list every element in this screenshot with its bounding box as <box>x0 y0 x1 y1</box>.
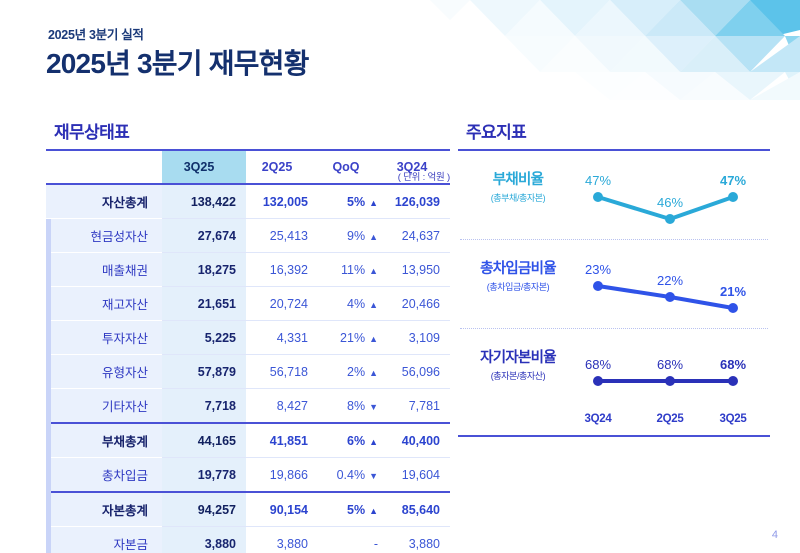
table-row: 현금성자산27,67425,4139%▲24,637 <box>46 219 450 253</box>
panel-heading-key-metrics: 주요지표 <box>466 118 770 143</box>
metric-label: 자기자본비율(총자본/총자산) <box>462 351 574 382</box>
cell-qoq: 2%▲ <box>318 355 384 389</box>
cell-3q24: 20,466 <box>384 287 450 321</box>
cell-3q25: 7,718 <box>162 389 246 424</box>
cell-2q25: 41,851 <box>246 423 318 458</box>
row-label: 투자자산 <box>46 321 162 355</box>
column-header-qoq[interactable]: QoQ <box>318 151 384 184</box>
qoq-value: 2% <box>347 365 365 379</box>
cell-3q24: 7,781 <box>384 389 450 424</box>
row-label: 유형자산 <box>46 355 162 389</box>
cell-3q25: 19,778 <box>162 458 246 493</box>
metric-data-point[interactable] <box>665 214 675 224</box>
page-number: 4 <box>772 529 778 541</box>
unit-note: ( 단위 : 억원 ) <box>398 169 450 183</box>
metric-value-label: 22% <box>657 273 683 288</box>
balance-sheet-table: 3Q25 2Q25 QoQ 3Q24 자산총계138,422132,0055%▲… <box>46 151 450 553</box>
slide-eyebrow: 2025년 3분기 실적 <box>48 24 144 43</box>
cell-3q24: 19,604 <box>384 458 450 493</box>
balance-sheet-table-wrap: ( 단위 : 억원 ) 3Q25 2Q25 QoQ 3Q24 자산총계138,4… <box>46 151 450 553</box>
table-left-accent-bar <box>46 219 51 553</box>
metric-data-point[interactable] <box>593 192 603 202</box>
metric-data-point[interactable] <box>593 281 603 291</box>
cell-3q24: 3,109 <box>384 321 450 355</box>
metric-value-label: 68% <box>657 357 683 372</box>
cell-3q24: 13,950 <box>384 253 450 287</box>
cell-3q25: 5,225 <box>162 321 246 355</box>
metric-data-point[interactable] <box>728 303 738 313</box>
row-label: 재고자산 <box>46 287 162 321</box>
metric-subtitle: (총부채/총자본) <box>462 191 574 204</box>
cell-3q24: 40,400 <box>384 423 450 458</box>
financial-position-panel: 재무상태표 ( 단위 : 억원 ) 3Q25 2Q25 QoQ 3Q24 <box>46 118 450 553</box>
metric-block: 자기자본비율(총자본/총자산)68%68%68% <box>458 329 770 417</box>
metric-label: 부채비율(총부채/총자본) <box>462 173 574 204</box>
axis-baseline <box>458 435 770 437</box>
cell-3q25: 44,165 <box>162 423 246 458</box>
metric-value-label: 47% <box>585 173 611 188</box>
page-title: 2025년 3분기 재무현황 <box>46 42 309 82</box>
metric-value-label: 46% <box>657 195 683 210</box>
qoq-value: 8% <box>347 399 365 413</box>
cell-2q25: 20,724 <box>246 287 318 321</box>
cell-2q25: 16,392 <box>246 253 318 287</box>
metric-value-label: 68% <box>585 357 611 372</box>
metric-value-label: 47% <box>720 173 746 188</box>
arrow-up-icon: ▲ <box>369 232 378 242</box>
axis-tick-label: 2Q25 <box>657 413 684 425</box>
cell-2q25: 90,154 <box>246 492 318 527</box>
qoq-value: 4% <box>347 297 365 311</box>
metric-data-point[interactable] <box>593 376 603 386</box>
metric-block: 총차입금비율(총차입금/총자본)23%22%21% <box>458 240 770 328</box>
cell-3q25: 18,275 <box>162 253 246 287</box>
table-row: 기타자산7,7188,4278%▼7,781 <box>46 389 450 424</box>
row-label: 총차입금 <box>46 458 162 493</box>
cell-qoq: 8%▼ <box>318 389 384 424</box>
row-label: 기타자산 <box>46 389 162 424</box>
metric-title: 총차입금비율 <box>462 262 574 278</box>
qoq-value: 21% <box>340 331 365 345</box>
row-label: 매출채권 <box>46 253 162 287</box>
table-row: 자본금3,8803,880-3,880 <box>46 527 450 553</box>
qoq-value: 5% <box>347 195 365 209</box>
cell-3q24: 85,640 <box>384 492 450 527</box>
metric-data-point[interactable] <box>665 292 675 302</box>
cell-3q25: 94,257 <box>162 492 246 527</box>
panel-heading-balance-sheet: 재무상태표 <box>54 118 450 143</box>
qoq-value: 0.4% <box>337 468 366 482</box>
metric-subtitle: (총자본/총자산) <box>462 369 574 382</box>
metrics-axis: 3Q242Q253Q25 <box>458 411 770 445</box>
metric-subtitle: (총차입금/총자본) <box>462 280 574 293</box>
metric-block: 부채비율(총부채/총자본)47%46%47% <box>458 151 770 239</box>
cell-qoq: 5%▲ <box>318 184 384 219</box>
axis-tick-label: 3Q25 <box>720 413 747 425</box>
row-label: 자본총계 <box>46 492 162 527</box>
cell-qoq: 11%▲ <box>318 253 384 287</box>
metric-title: 자기자본비율 <box>462 351 574 367</box>
arrow-down-icon: ▼ <box>369 471 378 481</box>
cell-qoq: 6%▲ <box>318 423 384 458</box>
metric-data-point[interactable] <box>665 376 675 386</box>
qoq-value: - <box>374 537 378 551</box>
row-label: 부채총계 <box>46 423 162 458</box>
arrow-up-icon: ▲ <box>369 437 378 447</box>
cell-3q24: 3,880 <box>384 527 450 553</box>
cell-3q25: 21,651 <box>162 287 246 321</box>
metric-data-point[interactable] <box>728 376 738 386</box>
qoq-value: 5% <box>347 503 365 517</box>
table-row: 재고자산21,65120,7244%▲20,466 <box>46 287 450 321</box>
column-header-label <box>46 151 162 184</box>
axis-tick-label: 3Q24 <box>585 413 612 425</box>
column-header-2q25[interactable]: 2Q25 <box>246 151 318 184</box>
cell-qoq: 5%▲ <box>318 492 384 527</box>
cell-3q25: 3,880 <box>162 527 246 553</box>
qoq-value: 9% <box>347 229 365 243</box>
metric-data-point[interactable] <box>728 192 738 202</box>
row-label: 자산총계 <box>46 184 162 219</box>
table-row: 매출채권18,27516,39211%▲13,950 <box>46 253 450 287</box>
cell-3q24: 126,039 <box>384 184 450 219</box>
arrow-down-icon: ▼ <box>369 402 378 412</box>
table-row: 부채총계44,16541,8516%▲40,400 <box>46 423 450 458</box>
cell-2q25: 132,005 <box>246 184 318 219</box>
table-row: 자본총계94,25790,1545%▲85,640 <box>46 492 450 527</box>
cell-3q25: 27,674 <box>162 219 246 253</box>
table-row: 유형자산57,87956,7182%▲56,096 <box>46 355 450 389</box>
metric-value-label: 68% <box>720 357 746 372</box>
cell-3q24: 56,096 <box>384 355 450 389</box>
table-row: 투자자산5,2254,33121%▲3,109 <box>46 321 450 355</box>
arrow-up-icon: ▲ <box>369 300 378 310</box>
table-row: 자산총계138,422132,0055%▲126,039 <box>46 184 450 219</box>
cell-qoq: 0.4%▼ <box>318 458 384 493</box>
metric-value-label: 23% <box>585 262 611 277</box>
cell-qoq: 4%▲ <box>318 287 384 321</box>
cell-qoq: - <box>318 527 384 553</box>
cell-2q25: 8,427 <box>246 389 318 424</box>
cell-2q25: 56,718 <box>246 355 318 389</box>
metric-value-label: 21% <box>720 284 746 299</box>
cell-qoq: 21%▲ <box>318 321 384 355</box>
cell-3q25: 138,422 <box>162 184 246 219</box>
arrow-up-icon: ▲ <box>369 266 378 276</box>
cell-2q25: 3,880 <box>246 527 318 553</box>
arrow-up-icon: ▲ <box>369 198 378 208</box>
metric-line-chart: 23%22%21% <box>570 240 770 328</box>
qoq-value: 6% <box>347 434 365 448</box>
qoq-value: 11% <box>341 263 365 277</box>
cell-2q25: 4,331 <box>246 321 318 355</box>
table-row: 총차입금19,77819,8660.4%▼19,604 <box>46 458 450 493</box>
column-header-3q25[interactable]: 3Q25 <box>162 151 246 184</box>
cell-2q25: 25,413 <box>246 219 318 253</box>
cell-2q25: 19,866 <box>246 458 318 493</box>
arrow-up-icon: ▲ <box>369 334 378 344</box>
metric-line-chart: 47%46%47% <box>570 151 770 239</box>
key-metrics-panel: 주요지표 부채비율(총부채/총자본)47%46%47%총차입금비율(총차입금/총… <box>458 118 770 445</box>
cell-3q24: 24,637 <box>384 219 450 253</box>
row-label: 현금성자산 <box>46 219 162 253</box>
cell-qoq: 9%▲ <box>318 219 384 253</box>
row-label: 자본금 <box>46 527 162 553</box>
metrics-list: 부채비율(총부채/총자본)47%46%47%총차입금비율(총차입금/총자본)23… <box>458 151 770 417</box>
slide-page: 2025년 3분기 실적 2025년 3분기 재무현황 재무상태표 ( 단위 :… <box>0 0 800 553</box>
arrow-up-icon: ▲ <box>369 506 378 516</box>
cell-3q25: 57,879 <box>162 355 246 389</box>
metric-title: 부채비율 <box>462 173 574 189</box>
balance-sheet-body: 자산총계138,422132,0055%▲126,039현금성자산27,6742… <box>46 184 450 553</box>
metric-line-chart: 68%68%68% <box>570 329 770 417</box>
table-header-row: 3Q25 2Q25 QoQ 3Q24 <box>46 151 450 184</box>
metric-label: 총차입금비율(총차입금/총자본) <box>462 262 574 293</box>
arrow-up-icon: ▲ <box>369 368 378 378</box>
